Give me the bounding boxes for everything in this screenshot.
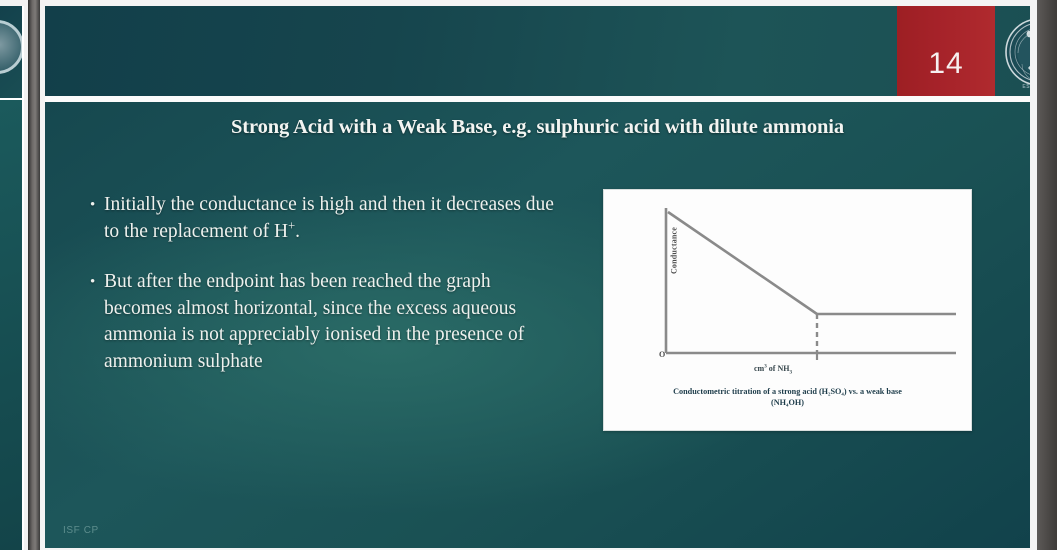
chart-x-axis-label: cm3 of NH3 bbox=[754, 364, 792, 373]
previous-slide-thumbnail[interactable] bbox=[0, 0, 28, 550]
institution-logo: ESTD. 1984 bbox=[1000, 12, 1030, 96]
list-item: • Initially the conductance is high and … bbox=[90, 192, 560, 245]
chart-origin-label: O bbox=[659, 350, 665, 359]
slide-number-label: 14 bbox=[928, 21, 963, 81]
bullet-text-1: Initially the conductance is high and th… bbox=[104, 192, 560, 245]
bullet-text-2: But after the endpoint has been reached … bbox=[104, 269, 560, 375]
current-slide: 14 bbox=[40, 0, 1030, 550]
x-label-mid: of NH bbox=[767, 364, 790, 373]
slide-number-badge: 14 bbox=[897, 6, 995, 96]
x-label-pre: cm bbox=[754, 364, 764, 373]
slide-right-edge bbox=[1030, 0, 1037, 550]
slide-viewer: 14 bbox=[0, 0, 1057, 550]
x-label-subscript: 3 bbox=[789, 370, 792, 376]
slide-title: Strong Acid with a Weak Base, e.g. sulph… bbox=[45, 116, 1030, 139]
institution-seal-icon bbox=[1004, 17, 1030, 87]
bullet-list: • Initially the conductance is high and … bbox=[90, 192, 560, 399]
previous-slide-body bbox=[0, 100, 24, 550]
right-gutter[interactable] bbox=[1037, 0, 1057, 550]
figure-caption-line-1: Conductometric titration of a strong aci… bbox=[610, 386, 965, 397]
bullet-marker-icon: • bbox=[90, 192, 104, 245]
slide-header-band: 14 bbox=[45, 6, 1030, 96]
vertical-divider[interactable] bbox=[28, 0, 40, 550]
figure-caption: Conductometric titration of a strong aci… bbox=[610, 386, 965, 408]
bullet-1-post: . bbox=[295, 221, 300, 242]
bullet-marker-icon: • bbox=[90, 269, 104, 375]
seal-established-label: ESTD. 1984 bbox=[1000, 84, 1030, 90]
institution-seal-icon bbox=[0, 20, 24, 74]
list-item: • But after the endpoint has been reache… bbox=[90, 269, 560, 375]
previous-slide-header bbox=[0, 6, 24, 100]
figure-caption-line-2: (NH₄OH) bbox=[610, 397, 965, 408]
figure-panel: Conductance O cm3 of NH3 Conductometric … bbox=[603, 189, 972, 431]
chart-y-axis-label: Conductance bbox=[670, 211, 679, 291]
slide-footer-text: ISF CP bbox=[63, 525, 99, 536]
bullet-1-pre: Initially the conductance is high and th… bbox=[104, 194, 554, 242]
slide-content-area: Strong Acid with a Weak Base, e.g. sulph… bbox=[45, 102, 1030, 548]
